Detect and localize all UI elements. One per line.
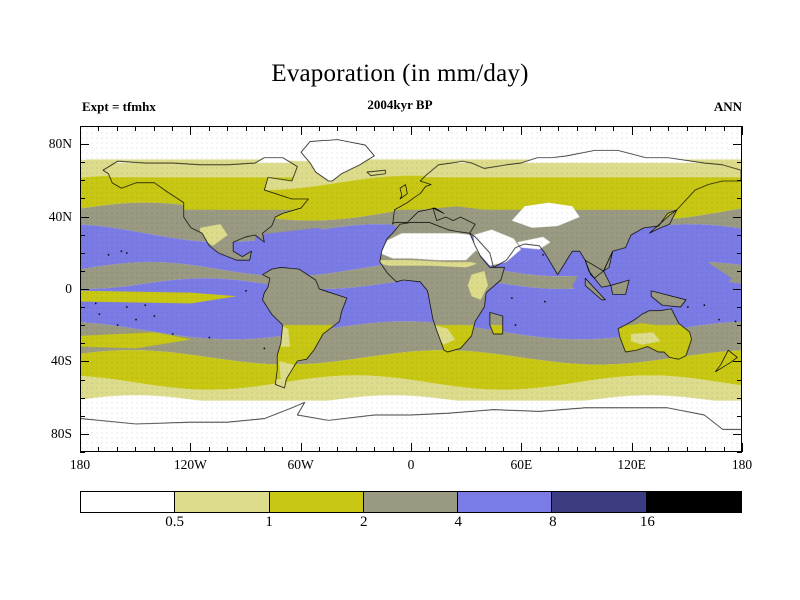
x-tick-minor [319,447,320,452]
x-tick-top [503,126,504,131]
x-axis-tick-label: 120E [617,457,646,473]
x-tick-top [577,126,578,131]
period-label: ANN [714,99,742,115]
x-tick-top [429,126,430,131]
x-tick-top [687,126,688,131]
y-axis-tick-label: 0 [30,281,72,297]
x-tick-minor [521,443,522,452]
x-tick-top [540,126,541,131]
x-tick-minor [135,447,136,452]
colorbar-tick-label: 4 [455,514,463,531]
x-tick-top [80,126,81,135]
x-tick-minor [558,447,559,452]
y-tick-right [737,398,742,399]
y-tick-right [737,380,742,381]
colorbar-tick-label: 16 [640,514,655,531]
x-tick-top [485,126,486,131]
y-tick-right [737,162,742,163]
x-tick-top [154,126,155,131]
y-tick-left [80,416,85,417]
y-axis-tick-label: 40N [30,209,72,225]
y-tick-left [80,126,85,127]
x-tick-top [117,126,118,131]
x-tick-top [466,126,467,131]
y-tick-right [737,307,742,308]
y-tick-right [737,325,742,326]
y-tick-right [733,217,742,218]
page-title: Evaporation (in mm/day) [0,60,800,88]
colorbar-band [551,492,646,512]
x-tick-top [668,126,669,131]
x-tick-top [98,126,99,131]
colorbar-tick-label: 2 [360,514,368,531]
x-tick-minor [209,447,210,452]
x-tick-top [374,126,375,131]
y-tick-right [737,343,742,344]
y-tick-left [80,235,85,236]
x-tick-minor [595,447,596,452]
x-tick-minor [668,447,669,452]
x-tick-top [190,126,191,135]
colorbar [80,491,742,513]
x-tick-minor [540,447,541,452]
colorbar-band [457,492,552,512]
evaporation-map-figure: Evaporation (in mm/day) 2004kyr BP Expt … [0,0,800,600]
y-tick-right [737,180,742,181]
y-tick-left [80,398,85,399]
x-tick-top [227,126,228,131]
y-tick-right [733,289,742,290]
y-tick-right [737,416,742,417]
x-tick-top [172,126,173,131]
colorbar-band [269,492,364,512]
x-tick-minor [411,443,412,452]
x-tick-top [650,126,651,131]
y-tick-left [80,271,85,272]
x-tick-top [705,126,706,131]
y-tick-right [733,361,742,362]
x-tick-minor [393,447,394,452]
x-tick-minor [337,447,338,452]
x-tick-minor [227,447,228,452]
y-tick-left [80,434,89,435]
colorbar-band [363,492,458,512]
colorbar-tick-label: 0.5 [165,514,184,531]
x-tick-top [209,126,210,131]
x-tick-minor [301,443,302,452]
y-tick-left [80,361,89,362]
y-axis-tick-label: 40S [30,353,72,369]
y-tick-right [737,253,742,254]
y-tick-right [733,144,742,145]
x-tick-minor [466,447,467,452]
x-tick-minor [650,447,651,452]
y-axis-tick-label: 80S [30,426,72,442]
x-tick-minor [246,447,247,452]
x-axis-tick-label: 120W [174,457,207,473]
x-tick-minor [282,447,283,452]
colorbar-band [646,492,741,512]
x-tick-minor [632,443,633,452]
x-tick-top [411,126,412,135]
y-tick-right [737,271,742,272]
y-tick-right [737,198,742,199]
x-axis-tick-label: 0 [408,457,415,473]
x-tick-minor [190,443,191,452]
x-tick-minor [705,447,706,452]
y-tick-left [80,452,85,453]
x-tick-minor [117,447,118,452]
x-tick-minor [374,447,375,452]
x-tick-minor [687,447,688,452]
x-tick-minor [264,447,265,452]
x-tick-top [521,126,522,135]
y-tick-left [80,144,89,145]
y-tick-left [80,289,89,290]
x-tick-minor [356,447,357,452]
x-tick-minor [485,447,486,452]
y-tick-right [733,434,742,435]
y-tick-right [737,235,742,236]
x-axis-tick-label: 60E [510,457,532,473]
y-tick-left [80,180,85,181]
x-tick-minor [154,447,155,452]
y-tick-left [80,217,89,218]
x-tick-top [632,126,633,135]
x-axis-tick-label: 60W [288,457,314,473]
y-tick-left [80,343,85,344]
y-tick-left [80,162,85,163]
x-tick-top [246,126,247,131]
x-tick-minor [429,447,430,452]
colorbar-band [174,492,269,512]
x-tick-top [595,126,596,131]
x-tick-minor [503,447,504,452]
x-axis-tick-label: 180 [70,457,90,473]
x-tick-top [356,126,357,131]
x-tick-top [282,126,283,131]
x-tick-top [742,126,743,135]
x-tick-minor [577,447,578,452]
x-tick-top [393,126,394,131]
x-tick-minor [724,447,725,452]
x-tick-top [319,126,320,131]
y-tick-left [80,307,85,308]
y-tick-left [80,325,85,326]
x-tick-top [264,126,265,131]
colorbar-band [81,492,175,512]
x-tick-top [135,126,136,131]
x-tick-top [301,126,302,135]
evaporation-heatmap-canvas [81,127,741,451]
y-axis-tick-label: 80N [30,136,72,152]
colorbar-tick-label: 1 [265,514,273,531]
map-plot-area [80,126,742,452]
x-tick-minor [80,443,81,452]
x-tick-minor [742,443,743,452]
experiment-label: Expt = tfmhx [82,99,156,115]
x-tick-minor [98,447,99,452]
y-tick-right [737,452,742,453]
x-tick-top [558,126,559,131]
x-tick-top [613,126,614,131]
x-tick-minor [448,447,449,452]
x-tick-top [724,126,725,131]
x-tick-minor [613,447,614,452]
x-tick-top [448,126,449,131]
y-tick-left [80,253,85,254]
colorbar-tick-label: 8 [549,514,557,531]
y-tick-left [80,380,85,381]
y-tick-left [80,198,85,199]
x-tick-minor [172,447,173,452]
x-axis-tick-label: 180 [732,457,752,473]
y-tick-right [737,126,742,127]
x-tick-top [337,126,338,131]
